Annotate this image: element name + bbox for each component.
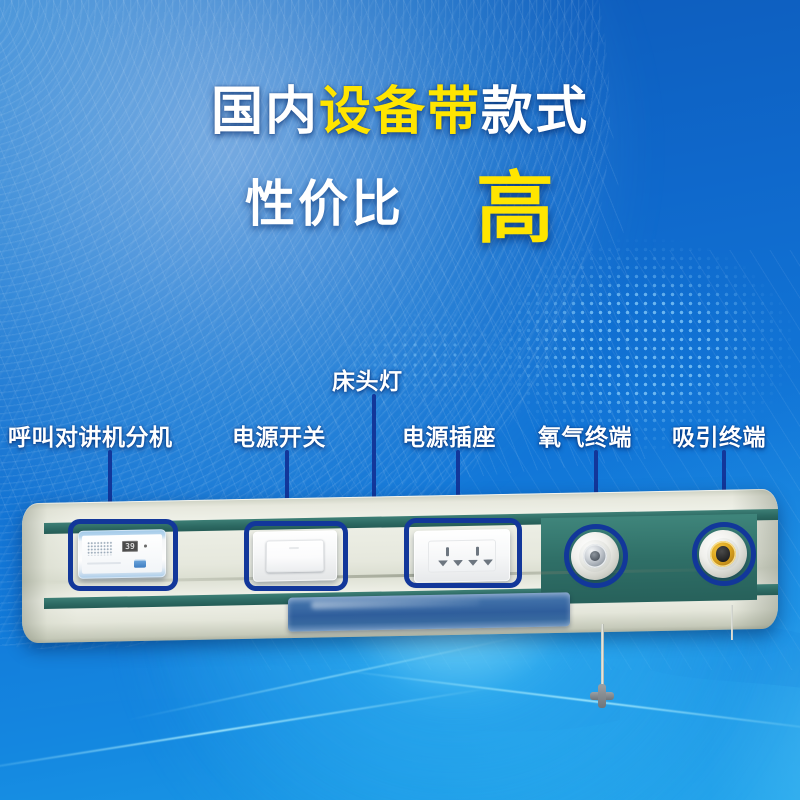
subheadline-emphasis: 高 [476,169,555,247]
product-banner: 国内设备带款式 性价比 高 呼叫对讲机分机 电源开关 床头灯 电源插座 氧气终端… [0,0,800,800]
halftone-dots-secondary [330,300,530,420]
callout-label-power-socket: 电源插座 [402,418,496,452]
headline-part-3: 款式 [481,86,589,138]
light-streak-3 [124,632,535,721]
suction-hose-line [731,605,733,640]
light-streak-2 [332,668,800,733]
highlight-circle-suction [692,522,756,586]
highlight-circle-oxygen [564,524,628,588]
callout-label-oxygen-terminal: 氧气终端 [538,418,632,452]
highlight-box-switch [244,521,348,591]
callout-label-power-switch: 电源开关 [232,418,326,452]
callout-label-bedside-lamp: 床头灯 [332,362,403,396]
pull-cord-handle[interactable] [588,682,616,710]
light-streak-1 [0,686,497,776]
headline-part-2: 设备带 [319,86,481,138]
callout-label-suction-terminal: 吸引终端 [672,418,766,452]
bedside-lamp-strip[interactable] [288,592,570,631]
subheadline-text: 性价比 [245,179,404,229]
headline-line-2: 性价比 高 [0,165,800,243]
headline-line-1: 国内设备带款式 [0,86,800,138]
callout-label-nurse-call-intercom: 呼叫对讲机分机 [8,418,173,452]
highlight-box-intercom [68,519,178,591]
highlight-box-socket [404,518,522,588]
headline-part-1: 国内 [211,86,319,138]
light-rays-upper [0,0,647,538]
pull-cord-line[interactable] [601,624,604,690]
